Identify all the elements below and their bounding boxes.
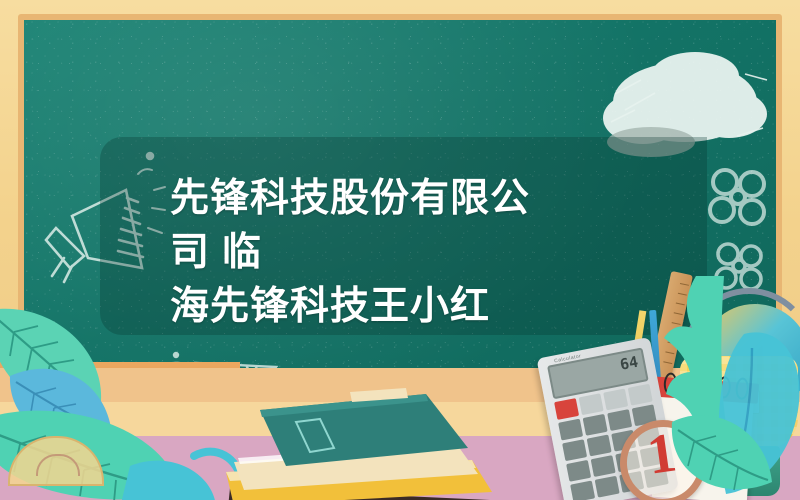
headline-line-1: 先锋科技股份有限公司 临 [170, 172, 560, 280]
leaf-cluster-right [576, 276, 800, 500]
desk-scene: Home School Calculator 64 [0, 270, 800, 500]
book-stack [200, 388, 500, 500]
banner-image: 先锋科技股份有限公司 临 海先锋科技王小红 [0, 0, 800, 500]
